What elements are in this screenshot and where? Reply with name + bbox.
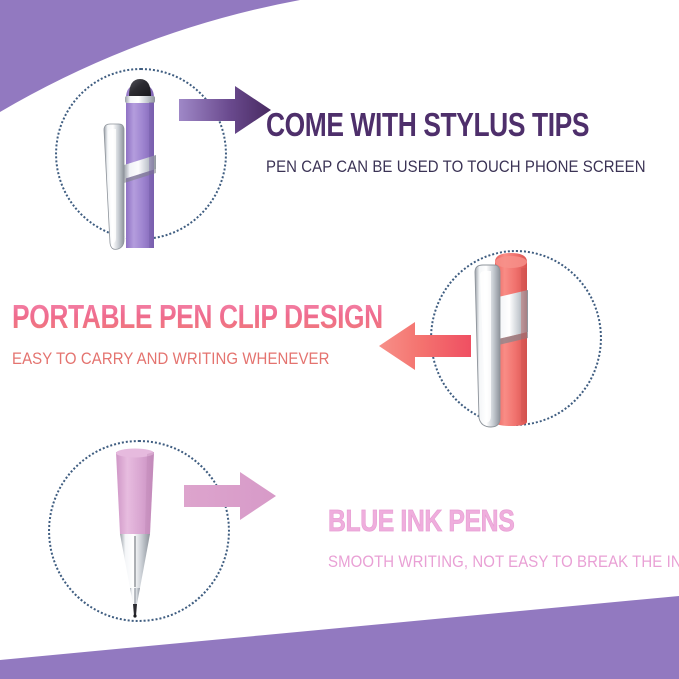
section-ink-subline: SMOOTH WRITING, NOT EASY TO BREAK THE IN…: [328, 552, 679, 572]
section-clip-headline: PORTABLE PEN CLIP DESIGN: [12, 300, 383, 333]
section-clip-text: PORTABLE PEN CLIP DESIGN EASY TO CARRY A…: [12, 300, 476, 369]
section-stylus-text: COME WITH STYLUS TIPS PEN CAP CAN BE USE…: [266, 108, 679, 177]
section-clip-subline: EASY TO CARRY AND WRITING WHENEVER: [12, 349, 420, 369]
arrow-right-purple: [177, 84, 273, 136]
section-ink-headline: BLUE INK PENS: [328, 505, 659, 536]
arrow-right-orchid: [182, 470, 278, 522]
section-ink-text: BLUE INK PENS SMOOTH WRITING, NOT EASY T…: [328, 505, 679, 572]
pen-writing-tip-illustration: [90, 448, 180, 618]
infographic-canvas: COME WITH STYLUS TIPS PEN CAP CAN BE USE…: [0, 0, 679, 679]
section-stylus-subline: PEN CAP CAN BE USED TO TOUCH PHONE SCREE…: [266, 157, 646, 177]
section-stylus-headline: COME WITH STYLUS TIPS: [266, 108, 611, 141]
